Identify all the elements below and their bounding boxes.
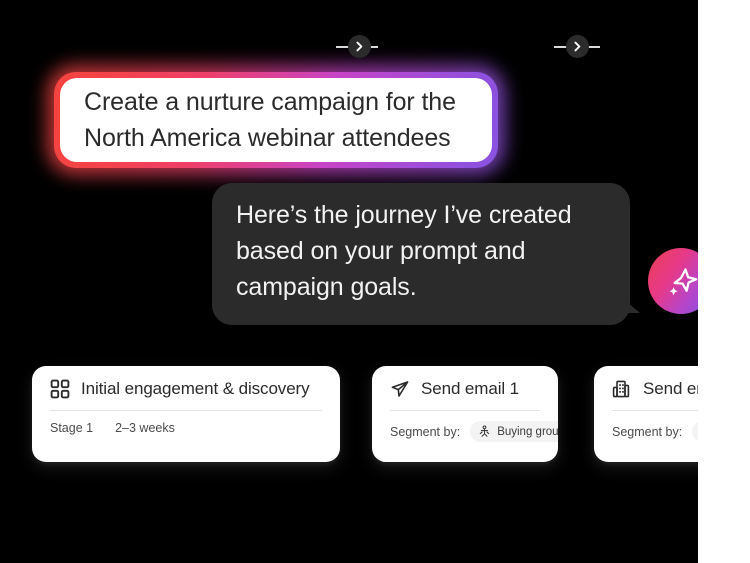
assistant-line-1: Here’s the journey I’ve created	[236, 197, 604, 233]
journey-card-header: Send email 1	[372, 366, 558, 410]
stage-label: Stage 1	[50, 421, 93, 435]
connector-1	[336, 42, 378, 52]
user-prompt-line-2: North America webinar attendees	[84, 120, 470, 156]
building-icon	[612, 379, 632, 399]
chevron-right-icon	[354, 41, 365, 52]
journey-card-meta: Stage 1 2–3 weeks	[32, 411, 340, 435]
journey-card-header: Initial engagement & discovery	[32, 366, 340, 410]
connector-chevron-2[interactable]	[566, 35, 589, 58]
user-prompt-bubble: Create a nurture campaign for the North …	[54, 72, 498, 168]
people-group-icon	[478, 425, 491, 438]
assistant-response-bubble: Here’s the journey I’ve created based on…	[212, 183, 630, 325]
assistant-line-2: based on your prompt and	[236, 233, 604, 269]
journey-card-send-email-1[interactable]: Send email 1 Segment by: Buying group	[372, 366, 558, 462]
duration-label: 2–3 weeks	[115, 421, 175, 435]
segment-pill-label: Buying group	[497, 426, 558, 438]
journey-card-title: Send email 1	[421, 379, 519, 399]
journey-card-stage-1[interactable]: Initial engagement & discovery Stage 1 2…	[32, 366, 340, 462]
bubble-tail	[614, 291, 640, 313]
journey-card-title: Initial engagement & discovery	[81, 379, 310, 399]
segment-pill-buying-group[interactable]: Buying group	[470, 421, 558, 442]
user-prompt-line-1: Create a nurture campaign for the	[84, 84, 470, 120]
journey-card-meta: Segment by: Buying group	[372, 411, 558, 442]
grid-icon	[50, 379, 70, 399]
chevron-right-icon	[572, 41, 583, 52]
connector-2	[554, 42, 600, 52]
segment-by-label: Segment by:	[612, 425, 682, 439]
canvas: Create a nurture campaign for the North …	[0, 0, 750, 563]
connector-chevron-1[interactable]	[348, 35, 371, 58]
sparkle-icon	[661, 261, 701, 301]
user-prompt-body: Create a nurture campaign for the North …	[60, 78, 492, 162]
right-white-gutter	[698, 0, 750, 563]
assistant-line-3: campaign goals.	[236, 269, 604, 305]
journey-cards-row: Initial engagement & discovery Stage 1 2…	[0, 366, 750, 466]
paper-plane-icon	[390, 379, 410, 399]
segment-by-label: Segment by:	[390, 425, 460, 439]
